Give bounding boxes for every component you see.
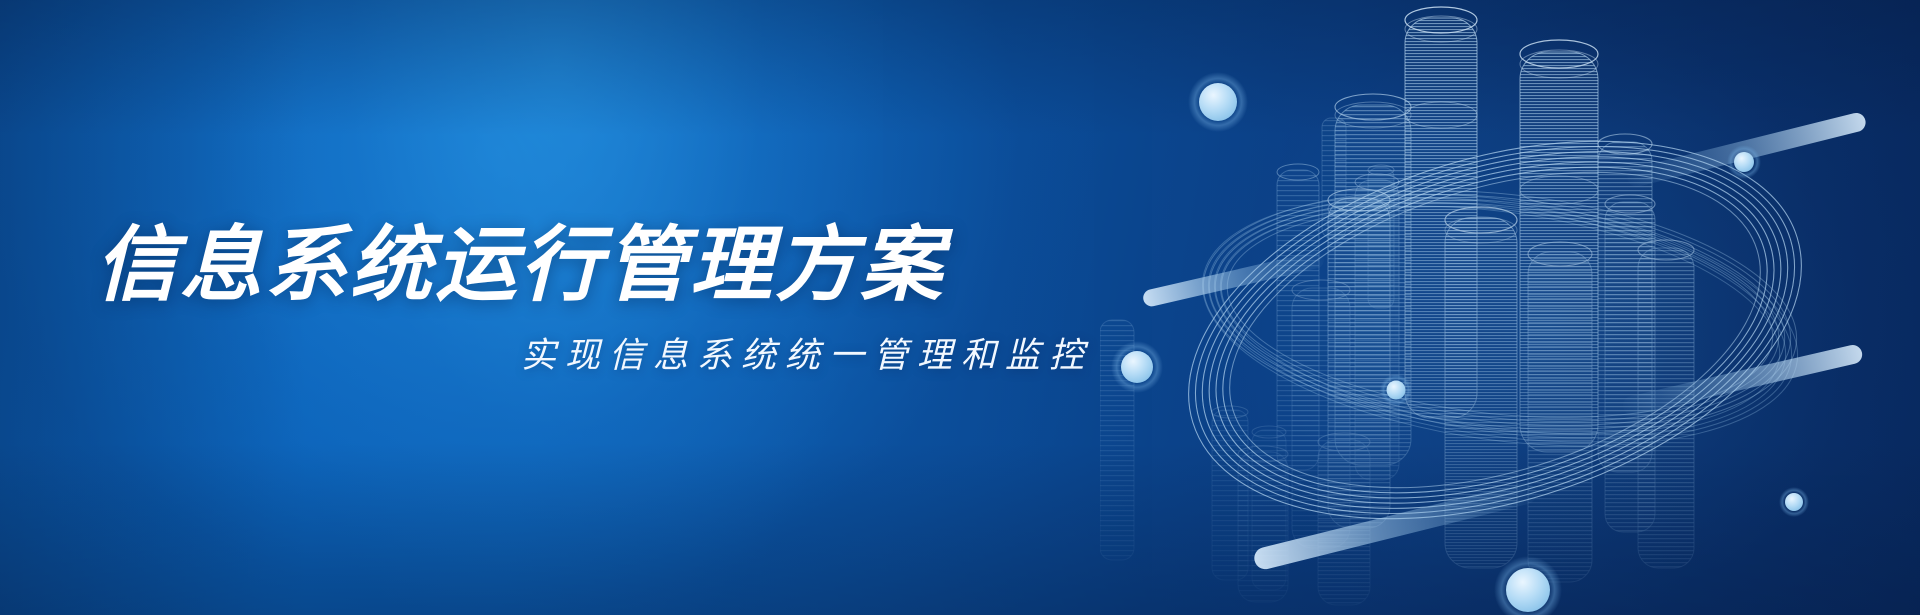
tower — [1368, 165, 1394, 308]
glow-dot — [1380, 374, 1412, 406]
glow-dot — [1111, 341, 1163, 393]
tower — [1318, 433, 1370, 605]
wireframe-city-orbit-illustration — [1100, 0, 1890, 615]
banner-text-block: 信息系统运行管理方案 实现信息系统统一管理和监控 — [95, 222, 1105, 378]
hero-banner: 信息系统运行管理方案 实现信息系统统一管理和监控 — [0, 0, 1920, 615]
glow-dot — [1188, 72, 1248, 132]
banner-subtitle: 实现信息系统统一管理和监控 — [95, 327, 1105, 378]
banner-title: 信息系统运行管理方案 — [95, 222, 1105, 311]
tower — [1528, 242, 1592, 582]
glow-dot — [1727, 145, 1761, 179]
glow-dot — [1779, 487, 1809, 517]
